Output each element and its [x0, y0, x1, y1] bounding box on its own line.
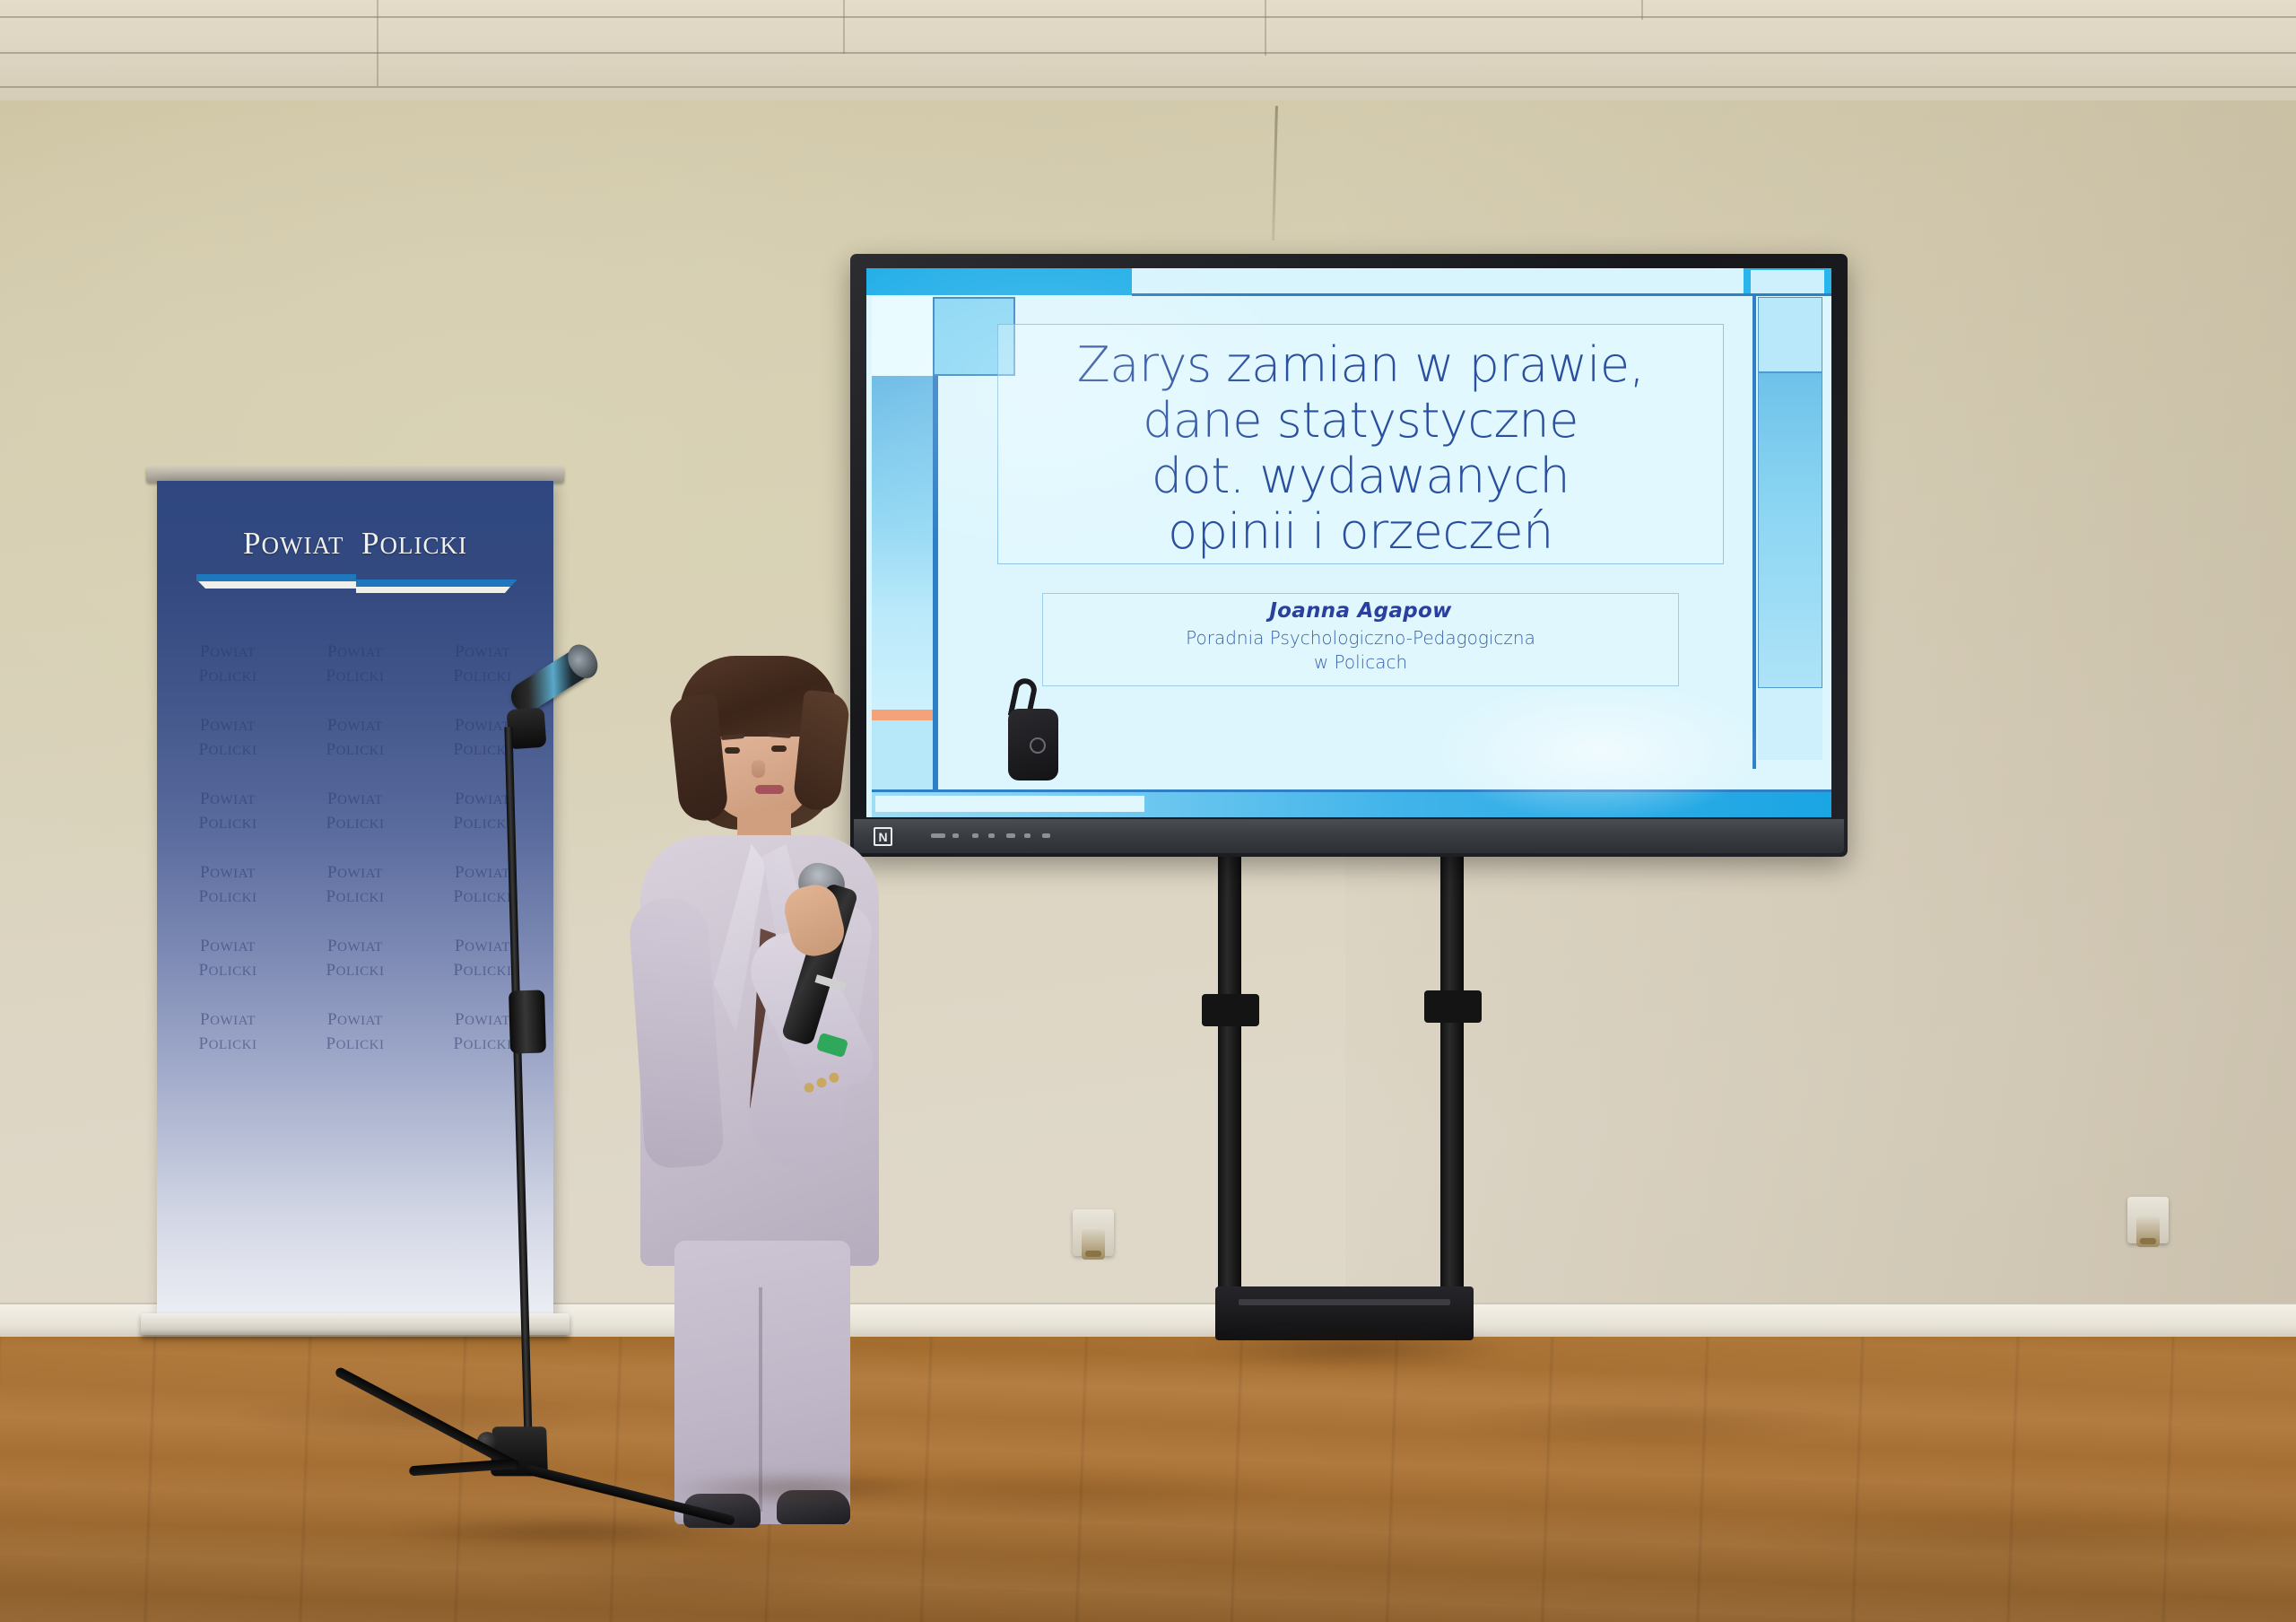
- slide-deco-left-rule: [933, 376, 938, 817]
- rollup-banner: POWIAT POLICKI POWIATPOLICKI POWIATPOLIC…: [157, 467, 553, 1373]
- wall-outlet[interactable]: [2127, 1197, 2169, 1243]
- display-button-volume-up[interactable]: [1024, 833, 1031, 838]
- power-plug: [2136, 1216, 2160, 1247]
- slide-subtitle-box: Joanna Agapow Poradnia Psychologiczno-Pe…: [1042, 593, 1679, 686]
- banner-base-shadow: [141, 1333, 570, 1344]
- slide-title-line: opinii i orzeczeń: [998, 504, 1723, 560]
- presenter-shadow: [664, 1471, 933, 1505]
- watermark-cell: POWIATPOLICKI: [164, 935, 291, 989]
- slide-deco-bottom-white: [875, 796, 1144, 812]
- banner-title-part2: OLICKI: [379, 532, 466, 559]
- watermark-cell: POWIATPOLICKI: [419, 861, 546, 915]
- slide-deco-right-block-2: [1758, 372, 1822, 688]
- slide-deco-right-block-3: [1758, 688, 1822, 760]
- tv-stand-post-left: [1218, 850, 1241, 1299]
- display-button-volume-down[interactable]: [988, 833, 995, 838]
- slide-organization: Poradnia Psychologiczno-Pedagogiczna w P…: [1043, 626, 1678, 675]
- ceiling-grid-line: [843, 0, 845, 54]
- slide-deco-top-line: [1132, 293, 1831, 296]
- tv-stand-clamp-left: [1202, 994, 1259, 1026]
- slide-title-line: dane statystyczne: [998, 393, 1723, 449]
- watermark-cell: POWIATPOLICKI: [291, 1008, 419, 1062]
- presenter: [628, 659, 897, 1449]
- banner-watermark-grid: POWIATPOLICKI POWIATPOLICKI POWIATPOLICK…: [157, 641, 553, 1315]
- mic-stand-shadow: [386, 1516, 762, 1547]
- slide-deco-top-corner-inner: [1751, 270, 1824, 293]
- slide-title: Zarys zamian w prawie, dane statystyczne…: [998, 337, 1723, 560]
- tv-stand-post-right: [1440, 850, 1464, 1299]
- power-plug: [1082, 1229, 1105, 1260]
- watermark-cell: POWIATPOLICKI: [164, 788, 291, 842]
- ceiling-grid-line: [1265, 0, 1266, 56]
- watermark-cell: POWIATPOLICKI: [291, 935, 419, 989]
- slide-deco-right-block-1: [1758, 297, 1822, 372]
- bag-logo-icon: [1030, 737, 1046, 754]
- room-scene: POWIAT POLICKI POWIATPOLICKI POWIATPOLIC…: [0, 0, 2296, 1622]
- watermark-cell: POWIATPOLICKI: [164, 714, 291, 768]
- watermark-cell: POWIATPOLICKI: [291, 861, 419, 915]
- ceiling-grid-line: [377, 0, 378, 86]
- display-button-input[interactable]: [972, 833, 978, 838]
- banner-base: [141, 1313, 570, 1335]
- slide-presenter-name: Joanna Agapow: [1043, 599, 1678, 623]
- ceiling-grid-line: [1641, 0, 1643, 20]
- display-button-power[interactable]: [931, 833, 945, 838]
- eye-right: [771, 746, 787, 752]
- watermark-cell: POWIATPOLICKI: [164, 1008, 291, 1062]
- ceiling-panel-line: [0, 86, 2296, 88]
- slide-deco-top-right: [1132, 268, 1744, 293]
- slide-organization-line: w Policach: [1043, 650, 1678, 675]
- slide-title-line: Zarys zamian w prawie,: [998, 337, 1723, 393]
- watermark-cell: POWIATPOLICKI: [291, 714, 419, 768]
- display-chin-bar: N: [854, 819, 1844, 853]
- watermark-cell: POWIATPOLICKI: [291, 788, 419, 842]
- presentation-display[interactable]: Zarys zamian w prawie, dane statystyczne…: [850, 254, 1848, 857]
- tv-stand-clamp-right: [1424, 990, 1482, 1023]
- tv-stand-shadow: [1193, 1328, 1516, 1369]
- watermark-cell: POWIATPOLICKI: [419, 935, 546, 989]
- ceiling-panel-line: [0, 52, 2296, 54]
- slide-title-line: dot. wydawanych: [998, 449, 1723, 504]
- watermark-cell: POWIATPOLICKI: [164, 641, 291, 694]
- slide-deco-top-bar: [866, 268, 1132, 295]
- banner-title: POWIAT POLICKI: [157, 526, 553, 562]
- slide-title-box: Zarys zamian w prawie, dane statystyczne…: [997, 324, 1724, 564]
- watermark-cell: POWIATPOLICKI: [164, 861, 291, 915]
- slide-deco-square-1: [872, 297, 933, 376]
- display-sensor-icon: [1006, 833, 1015, 838]
- watermark-cell: POWIATPOLICKI: [291, 641, 419, 694]
- display-indicator-led: [1042, 833, 1050, 838]
- slide-deco-right-rule: [1752, 293, 1756, 769]
- mic-stand-height-collar[interactable]: [509, 990, 546, 1053]
- display-button-menu[interactable]: [952, 833, 959, 838]
- watermark-cell: POWIATPOLICKI: [419, 788, 546, 842]
- banner-panel: POWIAT POLICKI POWIATPOLICKI POWIATPOLIC…: [157, 481, 553, 1315]
- wall-outlet[interactable]: [1073, 1209, 1114, 1256]
- lips: [755, 785, 784, 794]
- eye-left: [725, 747, 740, 754]
- slide-organization-line: Poradnia Psychologiczno-Pedagogiczna: [1043, 626, 1678, 650]
- banner-logo-stripe: [196, 574, 517, 594]
- nose: [752, 760, 765, 778]
- ceiling-panel-line: [0, 16, 2296, 18]
- banner-title-part1: OWIAT: [262, 532, 344, 559]
